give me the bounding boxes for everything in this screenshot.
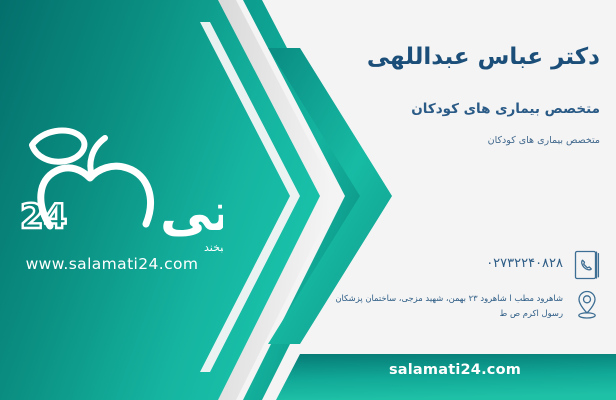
phone-row[interactable]: ۰۲۷۳۲۲۴۰۸۲۸	[486, 248, 602, 282]
logo-tagline: به راحتی یک لبخند	[204, 241, 223, 254]
specialty-primary: متخصص بیماری های کودکان	[411, 101, 600, 117]
business-card: سلامتی 24 به راحتی یک لبخند www.salamati…	[0, 0, 616, 400]
logo-website: www.salamati24.com	[26, 255, 199, 273]
logo-badge-24: 24	[20, 197, 67, 237]
logo-artwork: سلامتی 24 به راحتی یک لبخند www.salamati…	[8, 108, 223, 273]
brand-logo: سلامتی 24 به راحتی یک لبخند www.salamati…	[8, 108, 223, 273]
phone-number: ۰۲۷۳۲۲۴۰۸۲۸	[486, 248, 563, 271]
map-pin-icon	[572, 287, 602, 321]
address-text: شاهرود مطب ا شاهرود ۲۳ بهمن، شهید مزجی، …	[313, 287, 563, 320]
doctor-name: دکتر عباس عبداللهی	[367, 44, 600, 72]
info-panel: دکتر عباس عبداللهی متخصص بیماری های کودک…	[300, 0, 616, 355]
apple-leaf-icon	[32, 130, 84, 161]
phone-book-icon	[572, 248, 602, 282]
specialty-secondary: متخصص بیماری های کودکان	[488, 135, 600, 146]
footer-website[interactable]: salamati24.com	[330, 362, 580, 378]
address-row[interactable]: شاهرود مطب ا شاهرود ۲۳ بهمن، شهید مزجی، …	[313, 287, 602, 321]
logo-wordmark: سلامتی	[160, 183, 223, 243]
